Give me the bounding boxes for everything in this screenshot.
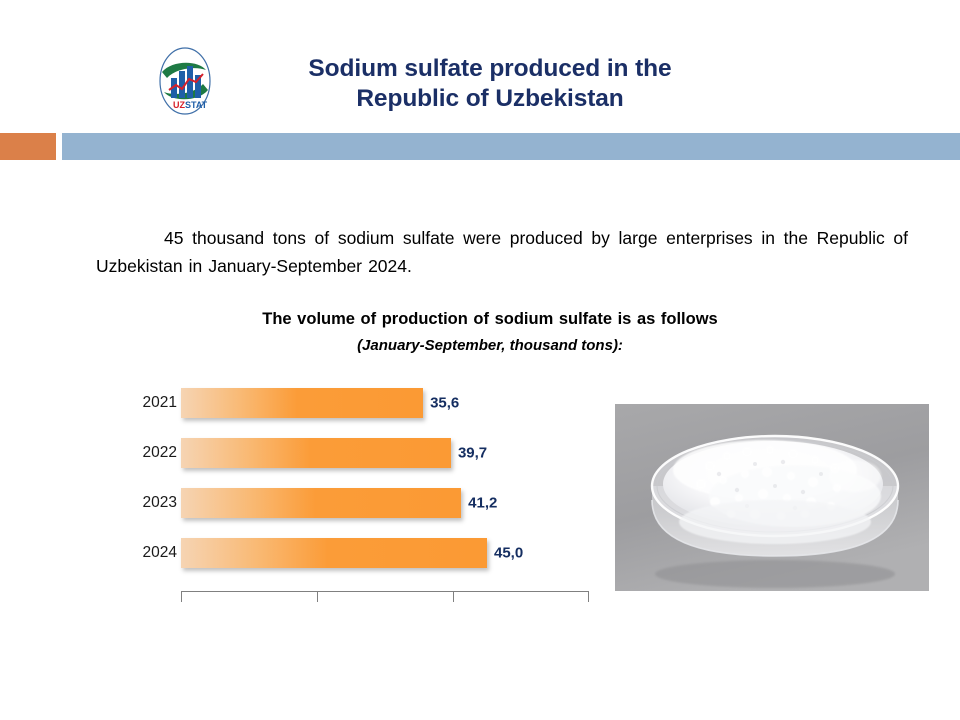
page-title-line-1: Sodium sulfate produced in the — [240, 54, 740, 84]
chart-row: 202445,0 — [120, 538, 600, 568]
chart-bar[interactable] — [181, 388, 423, 418]
intro-paragraph: 45 thousand tons of sodium sulfate were … — [96, 224, 908, 281]
chart-value-label: 35,6 — [430, 395, 459, 412]
page-title: Sodium sulfate produced in the Republic … — [240, 54, 740, 115]
chart-row: 202135,6 — [120, 388, 600, 418]
chart-bar[interactable] — [181, 538, 487, 568]
chart-subtitle: (January-September, thousand tons): — [110, 337, 870, 354]
chart-bar-track: 39,7 — [181, 438, 589, 468]
slide-header: UZ STAT Sodium sulfate produced in the R… — [0, 0, 960, 132]
chart-bar[interactable] — [181, 488, 461, 518]
chart-category-label: 2022 — [120, 444, 177, 462]
chart-row: 202341,2 — [120, 488, 600, 518]
chart-bar-track: 35,6 — [181, 388, 589, 418]
accent-blue-bar — [62, 133, 960, 160]
chart-row: 202239,7 — [120, 438, 600, 468]
chart-x-axis — [181, 591, 589, 603]
product-photo — [615, 404, 929, 591]
axis-tick — [453, 591, 454, 602]
chart-value-label: 39,7 — [458, 445, 487, 462]
chart-value-label: 45,0 — [494, 545, 523, 562]
chart-title: The volume of production of sodium sulfa… — [110, 310, 870, 329]
chart-category-label: 2024 — [120, 544, 177, 562]
chart-category-label: 2021 — [120, 394, 177, 412]
page-title-line-2: Republic of Uzbekistan — [240, 84, 740, 114]
axis-tick — [181, 591, 182, 602]
axis-tick — [317, 591, 318, 602]
chart-bar-track: 41,2 — [181, 488, 589, 518]
production-bar-chart: 202135,6202239,7202341,2202445,0 — [120, 388, 600, 603]
axis-tick — [588, 591, 589, 602]
chart-category-label: 2023 — [120, 494, 177, 512]
accent-orange-block — [0, 133, 56, 160]
svg-text:STAT: STAT — [185, 100, 208, 110]
chart-bar[interactable] — [181, 438, 451, 468]
chart-value-label: 41,2 — [468, 495, 497, 512]
axis-line — [181, 591, 589, 592]
chart-bar-track: 45,0 — [181, 538, 589, 568]
svg-text:UZ: UZ — [173, 100, 185, 110]
uzstat-logo: UZ STAT — [148, 44, 222, 118]
